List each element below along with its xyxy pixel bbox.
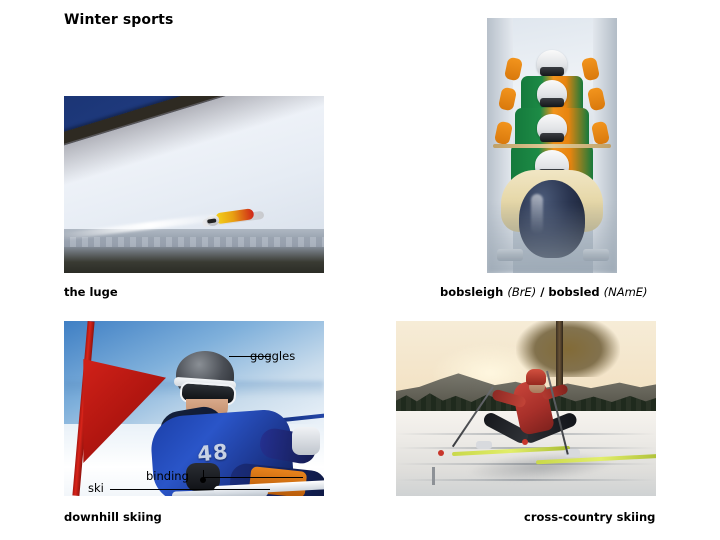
downhill-skier-glove-right: [292, 427, 320, 455]
crosscountry-trail-marker: [432, 467, 435, 485]
leader-line-ski: [110, 489, 270, 490]
luge-track-base: [64, 229, 324, 273]
visor-2: [540, 98, 564, 107]
winter-sports-page: Winter sports the luge: [0, 0, 720, 540]
crosscountry-pole-basket-front: [438, 450, 444, 456]
crosscountry-pole-basket-back: [522, 439, 528, 445]
callout-label-ski: ski: [88, 481, 104, 495]
crosscountry-boot-front: [476, 441, 492, 449]
crosscountry-skier-hat: [526, 369, 546, 385]
caption-bobsleigh: bobsleigh (BrE) / bobsled (NAmE): [440, 285, 648, 299]
bobsleigh-push-bar: [493, 144, 611, 148]
leader-line-binding: [203, 477, 303, 478]
visor-3: [540, 133, 564, 142]
photo-cross-country-skiing: [396, 321, 656, 496]
caption-downhill: downhill skiing: [64, 510, 162, 524]
bobsleigh-motion-blur: [487, 203, 617, 273]
caption-separator: /: [540, 285, 544, 299]
dialect-tag-name: (NAmE): [604, 285, 648, 299]
luge-track-ridge: [64, 237, 324, 247]
caption-luge: the luge: [64, 285, 118, 299]
caption-term-bobsled: bobsled: [548, 285, 599, 299]
photo-downhill-skiing: 48: [64, 321, 324, 496]
leader-dot-binding: [200, 477, 206, 483]
photo-luge: [64, 96, 324, 273]
caption-crosscountry: cross-country skiing: [524, 510, 655, 524]
visor-1: [540, 67, 564, 76]
callout-label-binding: binding: [146, 469, 189, 483]
callout-label-goggles: goggles: [250, 349, 295, 363]
photo-bobsleigh: [487, 18, 617, 273]
page-title: Winter sports: [64, 12, 173, 28]
dialect-tag-bre: (BrE): [507, 285, 536, 299]
caption-term-bobsleigh: bobsleigh: [440, 285, 503, 299]
